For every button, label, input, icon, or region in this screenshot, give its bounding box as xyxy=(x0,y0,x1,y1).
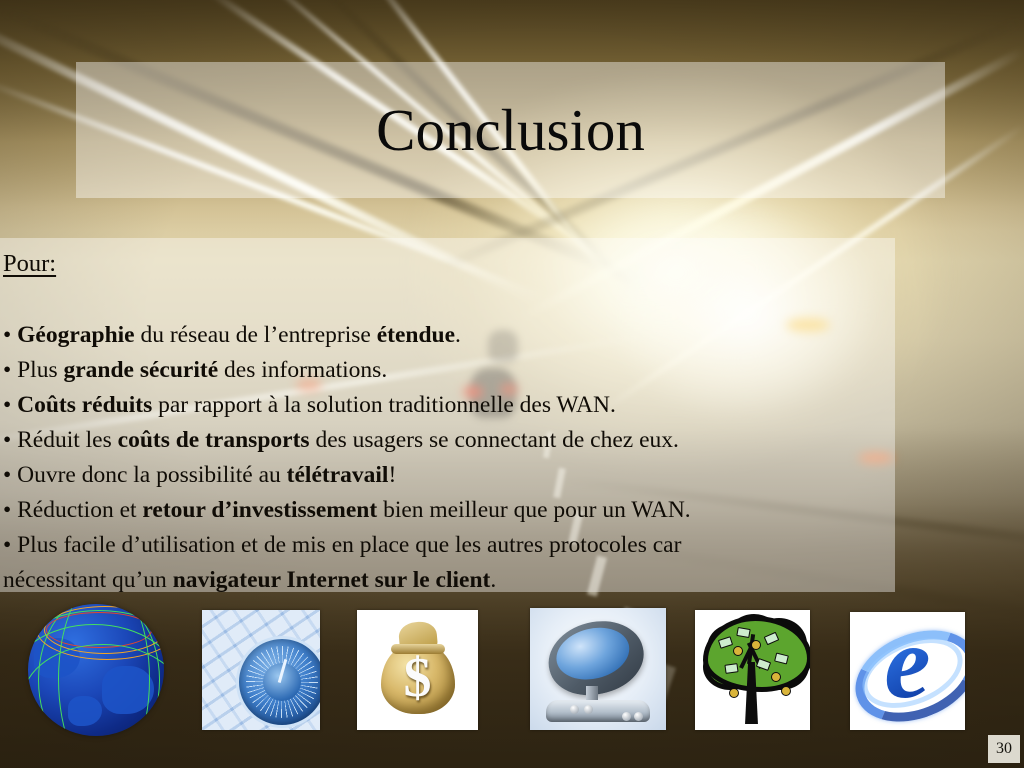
bullet-marker-icon: • xyxy=(3,462,17,488)
bullet-emphasis: navigateur Internet sur le client xyxy=(173,567,491,593)
money-tree-image xyxy=(695,610,810,730)
bullet-marker-icon: • xyxy=(3,322,17,348)
bullet-text: Ouvre donc la possibilité au xyxy=(17,462,287,488)
bullet-text: Plus facile d’utilisation et de mis en p… xyxy=(17,532,681,558)
bullet-text: des informations. xyxy=(218,357,387,383)
bullet-text: bien meilleur que pour un WAN. xyxy=(377,497,691,523)
bullet-emphasis: Coûts réduits xyxy=(17,392,152,418)
bullet-marker-icon: • xyxy=(3,392,17,418)
bullet-text: par rapport à la solution traditionnelle… xyxy=(152,392,616,418)
bullet-item: • Ouvre donc la possibilité au télétrava… xyxy=(3,458,900,493)
page-title: Conclusion xyxy=(76,62,945,198)
satellite-workstation-image xyxy=(530,608,666,730)
bullet-text: Réduit les xyxy=(17,427,118,453)
network-globe-image xyxy=(28,604,164,736)
bullet-item: • Plus facile d’utilisation et de mis en… xyxy=(3,528,900,563)
bullet-emphasis: étendue xyxy=(377,322,455,348)
bullet-emphasis: Géographie xyxy=(17,322,135,348)
bullet-text: du réseau de l’entreprise xyxy=(135,322,377,348)
bullet-emphasis: retour d’investissement xyxy=(142,497,377,523)
bullet-marker-icon: • xyxy=(3,497,17,523)
internet-explorer-logo-image: e xyxy=(850,612,965,730)
bullet-text: . xyxy=(455,322,461,348)
bullet-marker-icon: • xyxy=(3,532,17,558)
bullet-list: • Géographie du réseau de l’entreprise é… xyxy=(3,318,900,598)
bullet-marker-icon: • xyxy=(3,357,17,383)
combination-lock-keyboard-image xyxy=(202,610,320,730)
bullet-marker-icon: • xyxy=(3,427,17,453)
bullet-item: • Réduction et retour d’investissement b… xyxy=(3,493,900,528)
bullet-text: Réduction et xyxy=(17,497,142,523)
bullet-emphasis: coûts de transports xyxy=(118,427,310,453)
bullet-item-continuation: nécessitant qu’un navigateur Internet su… xyxy=(3,563,900,598)
bullet-text: des usagers se connectant de chez eux. xyxy=(310,427,679,453)
bullet-text: Plus xyxy=(17,357,63,383)
bullet-emphasis: grande sécurité xyxy=(63,357,218,383)
bullet-item: • Plus grande sécurité des informations. xyxy=(3,353,900,388)
bullet-text: nécessitant qu’un xyxy=(3,567,173,593)
bullet-text: ! xyxy=(388,462,396,488)
presentation-slide: Conclusion Pour: • Géographie du réseau … xyxy=(0,0,1024,768)
bullet-text: . xyxy=(490,567,496,593)
bullet-item: • Coûts réduits par rapport à la solutio… xyxy=(3,388,900,423)
money-bag-image: $ xyxy=(357,610,478,730)
bullet-item: • Réduit les coûts de transports des usa… xyxy=(3,423,900,458)
dollar-sign-icon: $ xyxy=(357,650,478,706)
content-spacer xyxy=(3,282,900,318)
page-number: 30 xyxy=(988,735,1020,763)
bullet-item: • Géographie du réseau de l’entreprise é… xyxy=(3,318,900,353)
combination-dial xyxy=(236,636,320,728)
content-text-block: Pour: • Géographie du réseau de l’entrep… xyxy=(0,238,900,592)
bullet-emphasis: télétravail xyxy=(287,462,389,488)
content-lead-label: Pour: xyxy=(3,246,56,281)
